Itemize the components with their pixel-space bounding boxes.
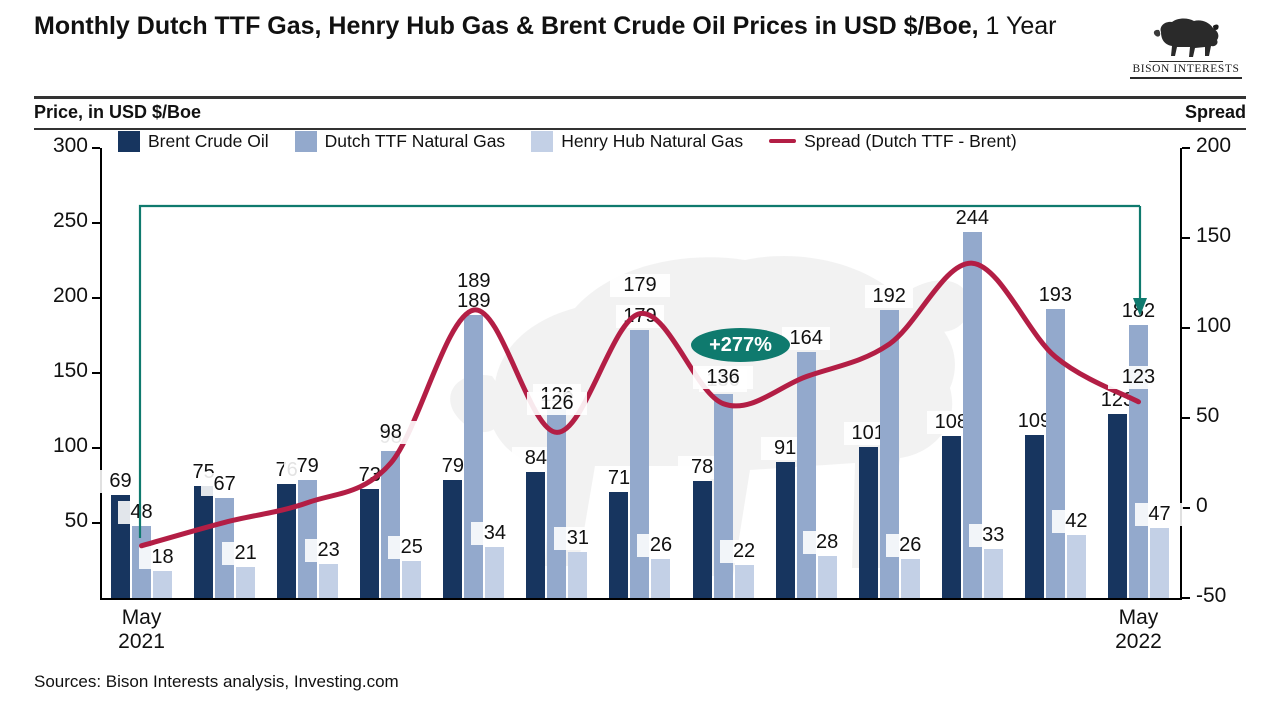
- title-bold: Monthly Dutch TTF Gas, Henry Hub Gas & B…: [34, 12, 979, 40]
- right-axis-line: [1180, 148, 1182, 600]
- right-axis-label-200: 200: [1196, 134, 1231, 158]
- right-tick-100: [1182, 327, 1190, 329]
- right-tick--50: [1182, 597, 1190, 599]
- left-tick-150: [92, 372, 100, 374]
- left-tick-300: [92, 147, 100, 149]
- left-tick-250: [92, 222, 100, 224]
- right-axis-title: Spread: [1185, 102, 1246, 123]
- right-axis-label--50: -50: [1196, 584, 1226, 608]
- page-title: Monthly Dutch TTF Gas, Henry Hub Gas & B…: [34, 10, 1124, 43]
- x-label-year: 2022: [1088, 630, 1188, 654]
- left-axis-label-300: 300: [53, 134, 88, 158]
- left-axis-label-50: 50: [65, 509, 88, 533]
- growth-badge: +277%: [691, 328, 790, 362]
- logo-rule-bottom: [1130, 77, 1242, 79]
- annotation-bracket-path: [140, 206, 1140, 538]
- left-axis-label-150: 150: [53, 359, 88, 383]
- bottom-axis-line: [100, 598, 1182, 600]
- left-tick-200: [92, 297, 100, 299]
- bison-interests-logo: BISON INTERESTS: [1126, 14, 1246, 92]
- title-light: 1 Year: [979, 12, 1057, 40]
- x-label-year: 2021: [92, 630, 192, 654]
- plot-area: 6948187567217679237398257918934841263171…: [100, 148, 1180, 598]
- left-axis-label-250: 250: [53, 209, 88, 233]
- right-tick-200: [1182, 147, 1190, 149]
- x-axis-label-0: May2021: [92, 606, 192, 653]
- logo-brand-text: BISON INTERESTS: [1126, 63, 1246, 75]
- right-tick-150: [1182, 237, 1190, 239]
- growth-annotation-bracket: [100, 148, 1180, 598]
- left-tick-100: [92, 447, 100, 449]
- right-tick-50: [1182, 417, 1190, 419]
- left-axis-label-200: 200: [53, 284, 88, 308]
- right-axis-label-150: 150: [1196, 224, 1231, 248]
- left-tick-50: [92, 522, 100, 524]
- right-axis-label-100: 100: [1196, 314, 1231, 338]
- right-axis-label-0: 0: [1196, 494, 1208, 518]
- x-axis-label-12: May2022: [1088, 606, 1188, 653]
- left-axis-label-100: 100: [53, 434, 88, 458]
- title-divider: [34, 96, 1246, 99]
- header: Monthly Dutch TTF Gas, Henry Hub Gas & B…: [34, 10, 1246, 43]
- left-axis-title: Price, in USD $/Boe: [34, 102, 201, 123]
- x-label-month: May: [1088, 606, 1188, 630]
- logo-rule-top: [1149, 61, 1223, 62]
- annotation-arrow-head: [1133, 298, 1147, 316]
- x-label-month: May: [92, 606, 192, 630]
- chart-area: Brent Crude Oil Dutch TTF Natural Gas He…: [0, 122, 1280, 642]
- bison-logo-icon: [1147, 14, 1225, 60]
- right-axis-label-50: 50: [1196, 404, 1219, 428]
- legend-line-spread: [769, 139, 796, 143]
- sources-note: Sources: Bison Interests analysis, Inves…: [34, 672, 399, 692]
